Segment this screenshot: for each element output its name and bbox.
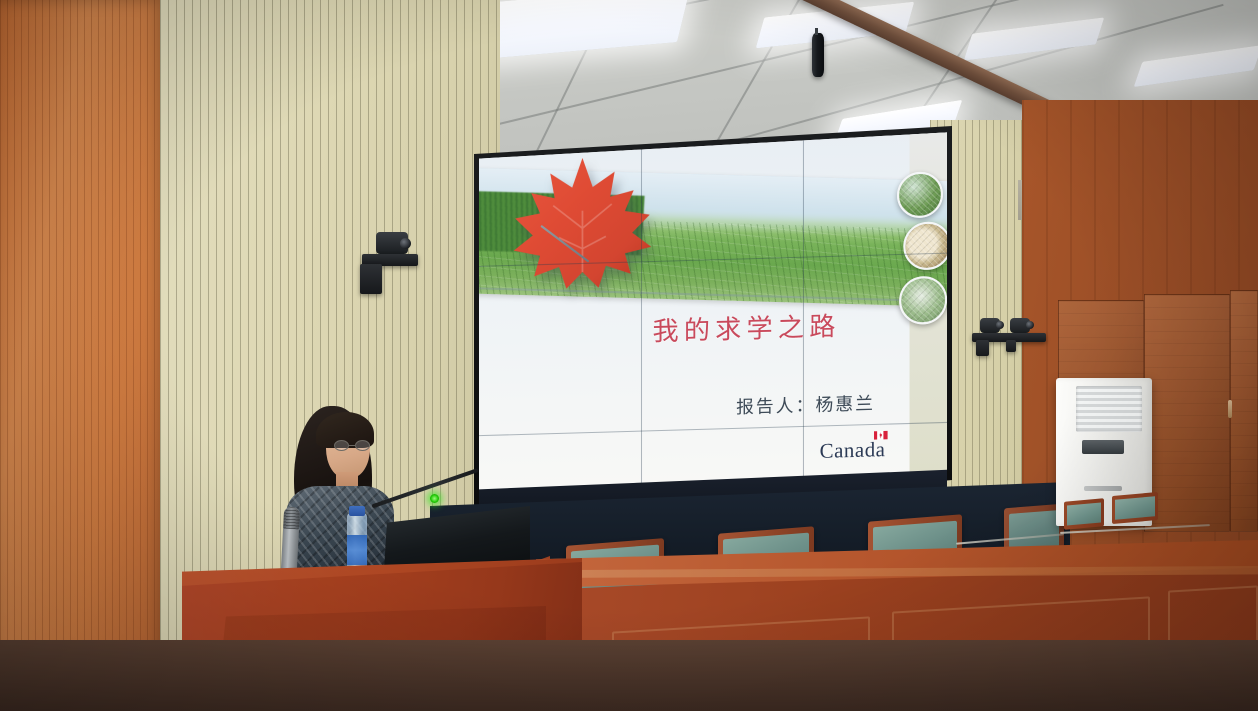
microphone-led-indicator [430,494,439,503]
water-bottle-label [347,535,367,565]
chair-upholstery [1115,496,1155,519]
ptz-camera-lens [400,238,411,249]
canada-wordmark: Canada [820,438,886,464]
wall-cabinet-door[interactable] [1230,290,1258,532]
canada-flag-icon [874,431,888,440]
ptz-camera-wall-plate [976,340,989,356]
floor [0,640,1258,711]
canada-wordmark-text: Canada [820,438,886,463]
slide-presenter-line: 报告人：杨惠兰 [736,388,875,418]
ac-brand-logo [1084,486,1122,491]
video-wall-display[interactable]: 我的求学之路 报告人：杨惠兰 Canada [479,130,947,522]
side-chair[interactable] [1064,498,1104,529]
ptz-camera-wall-plate [360,264,382,294]
chair-upholstery [1009,510,1059,551]
water-bottle-cap [349,506,365,516]
presentation-slide: 我的求学之路 报告人：杨惠兰 Canada [479,130,947,522]
slide-title: 我的求学之路 [652,306,840,349]
chair-upholstery [1067,503,1101,526]
presenter-glasses [334,440,370,452]
ceiling-speaker [812,33,824,77]
crop-field-circle-inset [897,171,943,218]
ac-display-panel[interactable] [1082,440,1124,454]
panel-seam-vertical [641,130,642,522]
maple-leaf-icon [504,150,661,301]
ptz-camera-lens [996,321,1004,329]
side-chair[interactable] [1112,492,1158,524]
left-orange-slat-wall [0,0,166,711]
grain-seeds-circle-inset [903,221,947,270]
plants-circle-inset [899,276,947,325]
ptz-camera-wall-plate [1006,340,1016,352]
cabinet-handle[interactable] [1228,400,1232,418]
ac-vent-grille [1076,386,1142,432]
ptz-camera-lens [1026,321,1034,329]
panel-seam-vertical [803,130,804,522]
conference-room-scene: 我的求学之路 报告人：杨惠兰 Canada [0,0,1258,711]
